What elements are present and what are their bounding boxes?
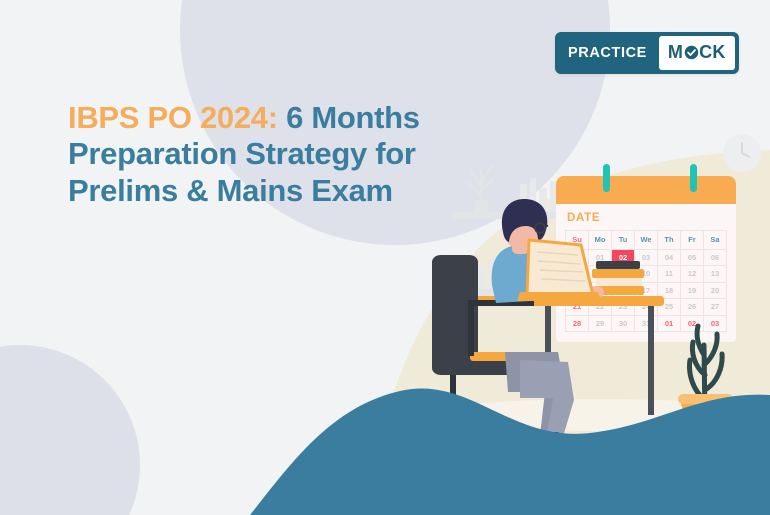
check-circle-icon (684, 45, 699, 60)
page-title: IBPS PO 2024: 6 Months Preparation Strat… (68, 100, 448, 209)
page-title-highlight: IBPS PO 2024: (68, 100, 278, 135)
logo-practice-text: PRACTICE (559, 45, 659, 61)
logo-mock-ck: CK (699, 42, 725, 63)
bottom-wave (0, 355, 770, 515)
logo-mock-badge: M CK (659, 36, 735, 70)
practicemock-logo[interactable]: PRACTICE M CK (555, 32, 739, 74)
banner: DATE SuMoTuWeThFrSa310102030405060708091… (0, 0, 770, 515)
logo-mock-m: M (668, 42, 683, 63)
